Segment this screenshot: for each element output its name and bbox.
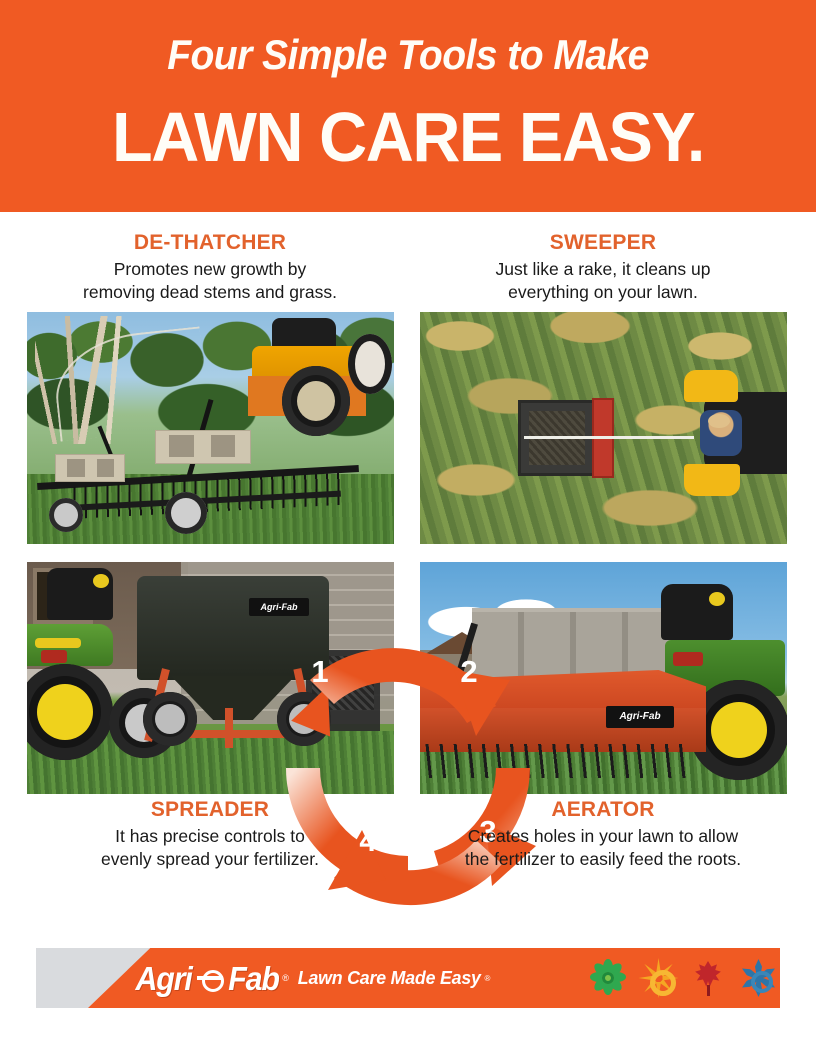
tool-title-spreader: SPREADER — [24, 798, 396, 822]
concrete-block — [155, 430, 251, 464]
agri-fab-badge — [249, 598, 309, 616]
de-thatcher-implement — [37, 440, 367, 526]
page-title: LAWN CARE EASY. — [20, 76, 795, 172]
footer-bar: Agri Fab ® Lawn Care Made Easy ® — [0, 948, 816, 1008]
tool-desc-line2-de-thatcher: removing dead stems and grass. — [24, 281, 396, 303]
caption-sweeper: SWEEPER Just like a rake, it cleans up e… — [417, 231, 789, 303]
photo-de-thatcher — [27, 312, 394, 544]
wheel-axle-icon — [195, 967, 225, 989]
tagline-trademark: ® — [484, 974, 490, 983]
spreader-wheel — [143, 692, 197, 746]
tool-desc-line2-sweeper: everything on your lawn. — [417, 281, 789, 303]
tool-desc-line2-spreader: evenly spread your fertilizer. — [24, 848, 396, 870]
agri-fab-logo[interactable]: Agri Fab ® Lawn Care Made Easy ® — [133, 960, 490, 996]
winter-snowflake-icon — [738, 958, 778, 998]
tool-title-de-thatcher: DE-THATCHER — [24, 231, 396, 255]
lawn-sweeper-implement — [518, 400, 628, 476]
tool-title-aerator: AERATOR — [417, 798, 789, 822]
fall-leaf-icon — [688, 958, 728, 998]
header-subtitle: Four Simple Tools to Make — [29, 0, 788, 76]
agri-fab-badge — [606, 706, 674, 728]
cycle-step-number-1: 1 — [305, 656, 335, 687]
cycle-diagram: 1 2 3 4 — [258, 618, 558, 918]
logo-text-fab: Fab — [228, 962, 279, 995]
concrete-block — [55, 454, 125, 482]
header-banner: Four Simple Tools to Make LAWN CARE EASY… — [0, 0, 816, 212]
tool-desc-line1-de-thatcher: Promotes new growth by — [24, 258, 396, 280]
caption-aerator: AERATOR Creates holes in your lawn to al… — [417, 798, 789, 870]
caption-spreader: SPREADER It has precise controls to even… — [24, 798, 396, 870]
tool-desc-line2-aerator: the fertilizer to easily feed the roots. — [417, 848, 789, 870]
tool-desc-line1-aerator: Creates holes in your lawn to allow — [417, 825, 789, 847]
logo-trademark: ® — [282, 973, 289, 983]
tool-desc-line1-sweeper: Just like a rake, it cleans up — [417, 258, 789, 280]
photo-sweeper — [420, 312, 787, 544]
tool-title-sweeper: SWEEPER — [417, 231, 789, 255]
summer-sun-icon — [638, 958, 678, 998]
logo-tagline: Lawn Care Made Easy — [298, 967, 481, 989]
cycle-step-number-2: 2 — [454, 656, 484, 687]
season-icons-group — [578, 954, 778, 1002]
riding-tractor-overhead — [682, 370, 787, 496]
tools-grid: DE-THATCHER Promotes new growth by remov… — [0, 212, 816, 884]
tool-desc-line1-spreader: It has precise controls to — [24, 825, 396, 847]
logo-text-agri: Agri — [135, 962, 191, 995]
spring-flower-icon — [588, 958, 628, 998]
cycle-arrows-svg — [258, 618, 558, 918]
caption-de-thatcher: DE-THATCHER Promotes new growth by remov… — [24, 231, 396, 303]
